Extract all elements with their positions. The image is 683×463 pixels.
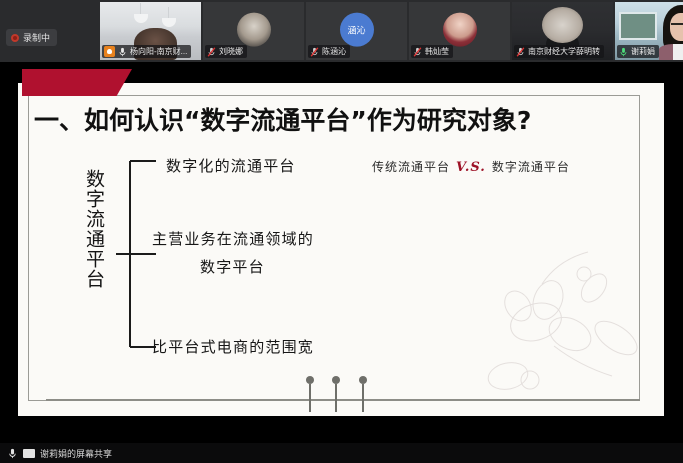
mic-on-icon (619, 47, 628, 57)
participant-name-badge: 陈涵沁 (308, 45, 350, 58)
participant-name-badge: 杨向阳-南京财... (102, 45, 191, 58)
diagram-item-2-line2: 数字平台 (200, 256, 265, 277)
avatar: 涵沁 (340, 13, 374, 47)
comparison-vs-mark: V.S. (456, 160, 486, 175)
decorative-lamp-icon (134, 14, 148, 23)
comparison-right: 数字流通平台 (492, 158, 570, 175)
recording-label: 录制中 (23, 31, 50, 44)
diagram-item-1: 数字化的流通平台 (166, 155, 296, 176)
participant-name-badge: 谢莉娟 (617, 45, 659, 58)
participant-tile-active-speaker[interactable]: 谢莉娟 (615, 2, 683, 60)
mic-icon (7, 448, 18, 459)
participant-name: 刘晓娜 (219, 46, 243, 57)
mic-on-icon (118, 47, 127, 57)
participant-tile[interactable]: 韩灿莹 (409, 2, 510, 60)
participant-name: 南京财经大学薛明转 (528, 46, 600, 57)
participant-tile[interactable]: 刘晓娜 (203, 2, 304, 60)
participant-tile[interactable]: 涵沁 陈涵沁 (306, 2, 407, 60)
decorative-rail (46, 399, 640, 401)
decorative-pin-icon (335, 384, 337, 412)
decorative-lamp-icon (162, 18, 176, 27)
diagram-vertical-label: 数字流通平台 (73, 169, 103, 289)
participant-name: 韩灿莹 (425, 46, 449, 57)
brace-bracket (116, 159, 160, 359)
screen-share-icon (23, 449, 35, 458)
participant-name: 陈涵沁 (322, 46, 346, 57)
slide-title: 一、如何认识“数字流通平台”作为研究对象? (34, 101, 531, 137)
avatar (659, 5, 683, 60)
mic-muted-icon (413, 47, 422, 57)
participant-tile[interactable]: 杨向阳-南京财... (100, 2, 201, 60)
screen-share-status-bar: 谢莉娟的屏幕共享 (0, 443, 683, 463)
participant-name-badge: 韩灿莹 (411, 45, 453, 58)
participant-name-badge: 南京财经大学薛明转 (514, 45, 604, 58)
mic-muted-icon (516, 47, 525, 57)
comparison-left: 传统流通平台 (372, 158, 450, 175)
screen-share-label: 谢莉娟的屏幕共享 (40, 447, 112, 460)
diagram-item-2-line1: 主营业务在流通领域的 (152, 228, 314, 249)
presentation-slide: 一、如何认识“数字流通平台”作为研究对象? 数字流通平台 数字化的流通平台 主营… (18, 83, 664, 416)
participant-tile[interactable]: 南京财经大学薛明转 (512, 2, 613, 60)
recording-indicator: 录制中 (6, 29, 57, 46)
zoom-meeting-window: 杨向阳-南京财... 刘晓娜 涵沁 (0, 0, 683, 463)
decorative-pin-icon (309, 384, 311, 412)
shared-screen-area: 一、如何认识“数字流通平台”作为研究对象? 数字流通平台 数字化的流通平台 主营… (0, 62, 683, 443)
host-icon (104, 46, 115, 57)
title-accent-tab (22, 69, 132, 96)
record-dot-icon (11, 34, 19, 42)
avatar (443, 13, 477, 47)
participant-name-badge: 刘晓娜 (205, 45, 247, 58)
avatar (237, 13, 271, 47)
decorative-pin-icon (362, 384, 364, 412)
participant-name: 杨向阳-南京财... (130, 46, 187, 57)
mic-muted-icon (310, 47, 319, 57)
participant-filmstrip: 杨向阳-南京财... 刘晓娜 涵沁 (0, 0, 683, 62)
diagram-item-3: 比平台式电商的范围宽 (152, 336, 314, 357)
mic-muted-icon (207, 47, 216, 57)
slide-diagram: 数字流通平台 数字化的流通平台 主营业务在流通领域的 数字平台 比平台式电商的范… (18, 145, 664, 385)
comparison-row: 传统流通平台 V.S. 数字流通平台 (372, 158, 570, 175)
participant-name: 谢莉娟 (631, 46, 655, 57)
